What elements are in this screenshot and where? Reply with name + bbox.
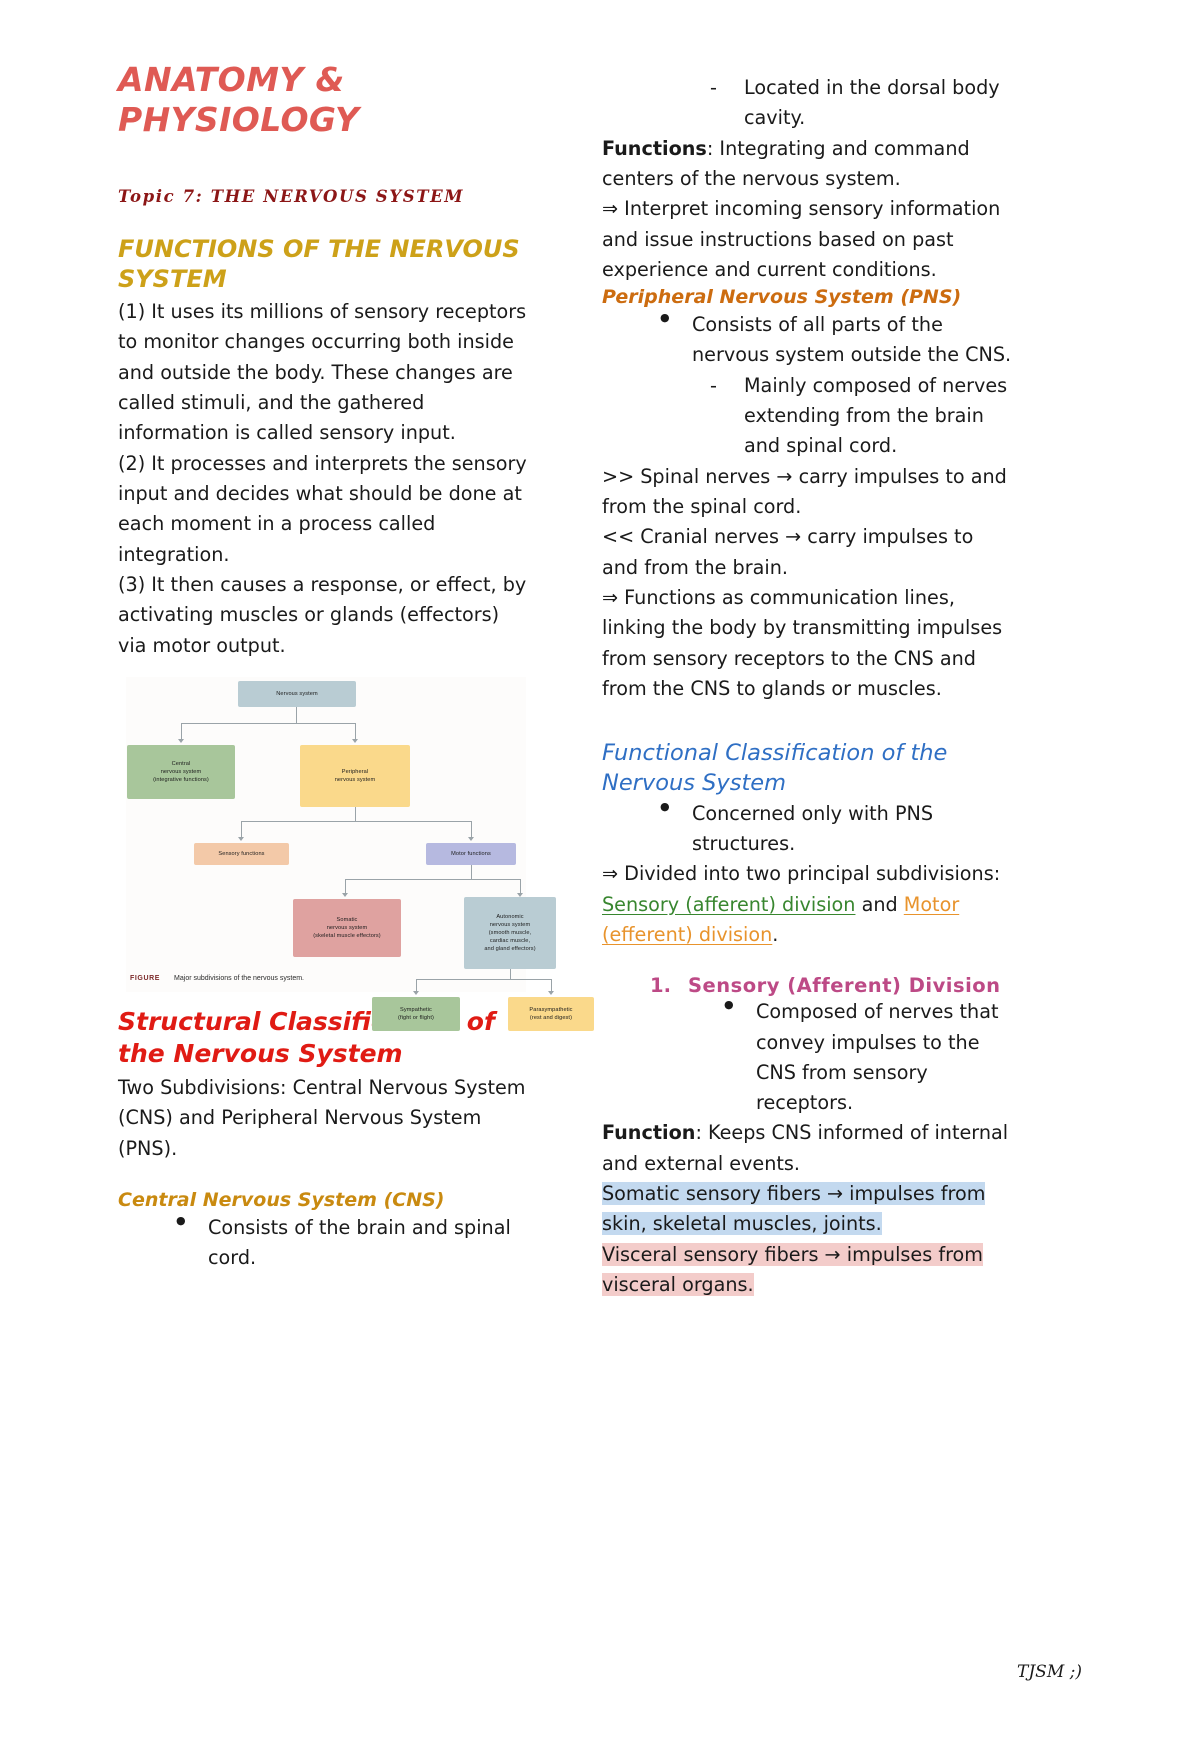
figure-node-sympathetic: Sympathetic (fight or flight) (372, 997, 460, 1031)
connector-motor-horizontal (345, 879, 520, 880)
heading-central-nervous-system: Central Nervous System (CNS) (118, 1188, 530, 1213)
figure-node-somatic-nervous-system: Somatic nervous system (skeletal muscle … (293, 899, 401, 957)
right-column: Located in the dorsal body cavity. Funct… (602, 60, 1014, 1698)
communication-lines-paragraph: ⇒ Functions as communication lines, link… (602, 583, 1014, 704)
connector-pns-vertical (355, 807, 356, 821)
figure-node-peripheral-nervous-system: Peripheral nervous system (300, 745, 410, 807)
highlight-pink-text: Visceral sensory fibers → impulses from … (602, 1243, 983, 1296)
pns-bullet-list: Consists of all parts of the nervous sys… (602, 310, 1014, 371)
list-item: Concerned only with PNS structures. (658, 799, 1014, 860)
heading-functions-of-the-nervous-system: FUNCTIONS OF THE NERVOUS SYSTEM (118, 234, 530, 295)
interpret-paragraph: ⇒ Interpret incoming sensory information… (602, 194, 1014, 285)
arrow-to-sensory (238, 837, 244, 841)
heading-peripheral-nervous-system: Peripheral Nervous System (PNS) (602, 285, 1014, 310)
heading-sensory-afferent-division: Sensory (Afferent) Division (688, 974, 1001, 997)
list-item: Composed of nerves that convey impulses … (722, 997, 1014, 1118)
list-item: Mainly composed of nerves extending from… (708, 371, 1014, 462)
connector-autonomic-horizontal (416, 979, 551, 980)
figure-node-motor-functions: Motor functions (426, 843, 516, 865)
cns-bullet-list: Consists of the brain and spinal cord. (118, 1213, 530, 1274)
arrow-to-sympathetic (413, 991, 419, 995)
cranial-nerves-line: << Cranial nerves → carry impulses to an… (602, 522, 1014, 583)
figure-node-parasympathetic: Parasympathetic (rest and digest) (508, 997, 594, 1031)
list-item: Consists of all parts of the nervous sys… (658, 310, 1014, 371)
visceral-sensory-highlighted: Visceral sensory fibers → impulses from … (602, 1240, 1014, 1301)
author-signature: TJSM ;) (1017, 1662, 1082, 1682)
somatic-sensory-highlighted: Somatic sensory fibers → impulses from s… (602, 1179, 1014, 1240)
sensory-division-bullet-list: Composed of nerves that convey impulses … (688, 997, 1014, 1118)
figure-node-autonomic-nervous-system: Autonomic nervous system (smooth muscle,… (464, 897, 556, 969)
divided-middle: and (855, 893, 903, 916)
figure-flowchart: Nervous system Central nervous system (i… (126, 677, 526, 967)
divided-subdivisions-paragraph: ⇒ Divided into two principal subdivision… (602, 859, 1014, 950)
function-label: Function (602, 1121, 695, 1144)
list-item: Sensory (Afferent) Division Composed of … (650, 974, 1014, 1118)
left-column: ANATOMY & PHYSIOLOGY Topic 7: THE NERVOU… (118, 60, 530, 1698)
heading-functional-classification: Functional Classification of the Nervous… (602, 738, 1014, 798)
figure-node-sensory-functions: Sensory functions (194, 843, 289, 865)
divided-suffix: . (772, 923, 778, 946)
sensory-function-paragraph: Function: Keeps CNS informed of internal… (602, 1118, 1014, 1179)
topic-label: Topic 7: THE NERVOUS SYSTEM (118, 187, 530, 206)
arrow-to-pns (352, 739, 358, 743)
dorsal-cavity-sublist: Located in the dorsal body cavity. (602, 73, 1014, 134)
link-sensory-afferent-division[interactable]: Sensory (afferent) division (602, 893, 855, 916)
figure-caption-label: FIGURE (130, 975, 160, 982)
cns-functions-paragraph: Functions: Integrating and command cente… (602, 134, 1014, 195)
functions-label: Functions (602, 137, 707, 160)
functions-paragraph: (1) It uses its millions of sensory rece… (118, 297, 530, 661)
figure-node-nervous-system: Nervous system (238, 681, 356, 707)
list-item: Consists of the brain and spinal cord. (174, 1213, 530, 1274)
notes-page: ANATOMY & PHYSIOLOGY Topic 7: THE NERVOU… (0, 0, 1200, 1738)
spinal-nerves-line: >> Spinal nerves → carry impulses to and… (602, 462, 1014, 523)
arrow-to-parasympathetic (548, 991, 554, 995)
two-column-layout: ANATOMY & PHYSIOLOGY Topic 7: THE NERVOU… (0, 0, 1200, 1738)
divided-prefix: ⇒ Divided into two principal subdivision… (602, 862, 1000, 885)
figure-node-central-nervous-system: Central nervous system (integrative func… (127, 745, 235, 799)
arrow-to-cns (178, 739, 184, 743)
functional-bullet-list: Concerned only with PNS structures. (602, 799, 1014, 860)
pns-sub-bullet-list: Mainly composed of nerves extending from… (602, 371, 1014, 462)
connector-pns-horizontal (241, 821, 471, 822)
structural-paragraph: Two Subdivisions: Central Nervous System… (118, 1073, 530, 1164)
heading-structural-classification: Structural Classification of the Nervous… (118, 1006, 530, 1071)
highlight-blue-text: Somatic sensory fibers → impulses from s… (602, 1182, 985, 1235)
connector-autonomic-vertical (510, 969, 511, 979)
connector-root-vertical (296, 707, 297, 723)
arrow-to-somatic (342, 893, 348, 897)
arrow-to-motor (468, 837, 474, 841)
functional-divisions-ordered-list: Sensory (Afferent) Division Composed of … (602, 974, 1014, 1118)
page-title: ANATOMY & PHYSIOLOGY (118, 60, 530, 141)
connector-root-horizontal (181, 723, 355, 724)
list-item: Located in the dorsal body cavity. (708, 73, 1014, 134)
figure-major-subdivisions: Nervous system Central nervous system (i… (126, 677, 526, 992)
connector-motor-vertical (471, 865, 472, 879)
figure-caption-text: Major subdivisions of the nervous system… (174, 975, 304, 982)
